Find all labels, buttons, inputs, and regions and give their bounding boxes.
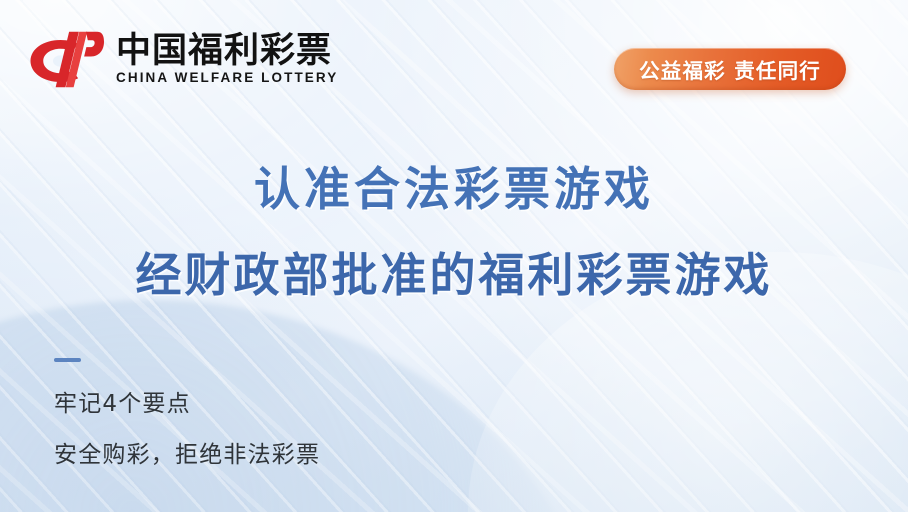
brand-wordmark: 中国福利彩票 CHINA WELFARE LOTTERY	[116, 31, 338, 85]
headline-block: 认准合法彩票游戏 经财政部批准的福利彩票游戏	[0, 162, 908, 303]
brand-name-en: CHINA WELFARE LOTTERY	[116, 71, 338, 85]
headline-primary: 认准合法彩票游戏	[0, 162, 908, 216]
brand-lockup: 中国福利彩票 CHINA WELFARE LOTTERY	[26, 27, 338, 89]
brand-name-cn: 中国福利彩票	[116, 33, 338, 70]
slogan-badge: 公益福彩 责任同行	[614, 48, 846, 90]
bottom-copy-block: 牢记4个要点 安全购彩，拒绝非法彩票	[54, 358, 320, 467]
sub-line-1: 牢记4个要点	[54, 393, 320, 416]
china-welfare-lottery-emblem-icon	[26, 27, 104, 89]
divider-rule	[54, 358, 81, 362]
headline-secondary: 经财政部批准的福利彩票游戏	[0, 248, 908, 302]
poster-canvas: 中国福利彩票 CHINA WELFARE LOTTERY 公益福彩 责任同行 认…	[0, 0, 908, 512]
sub-line-2: 安全购彩，拒绝非法彩票	[54, 444, 320, 467]
poster-header: 中国福利彩票 CHINA WELFARE LOTTERY 公益福彩 责任同行	[0, 0, 908, 140]
